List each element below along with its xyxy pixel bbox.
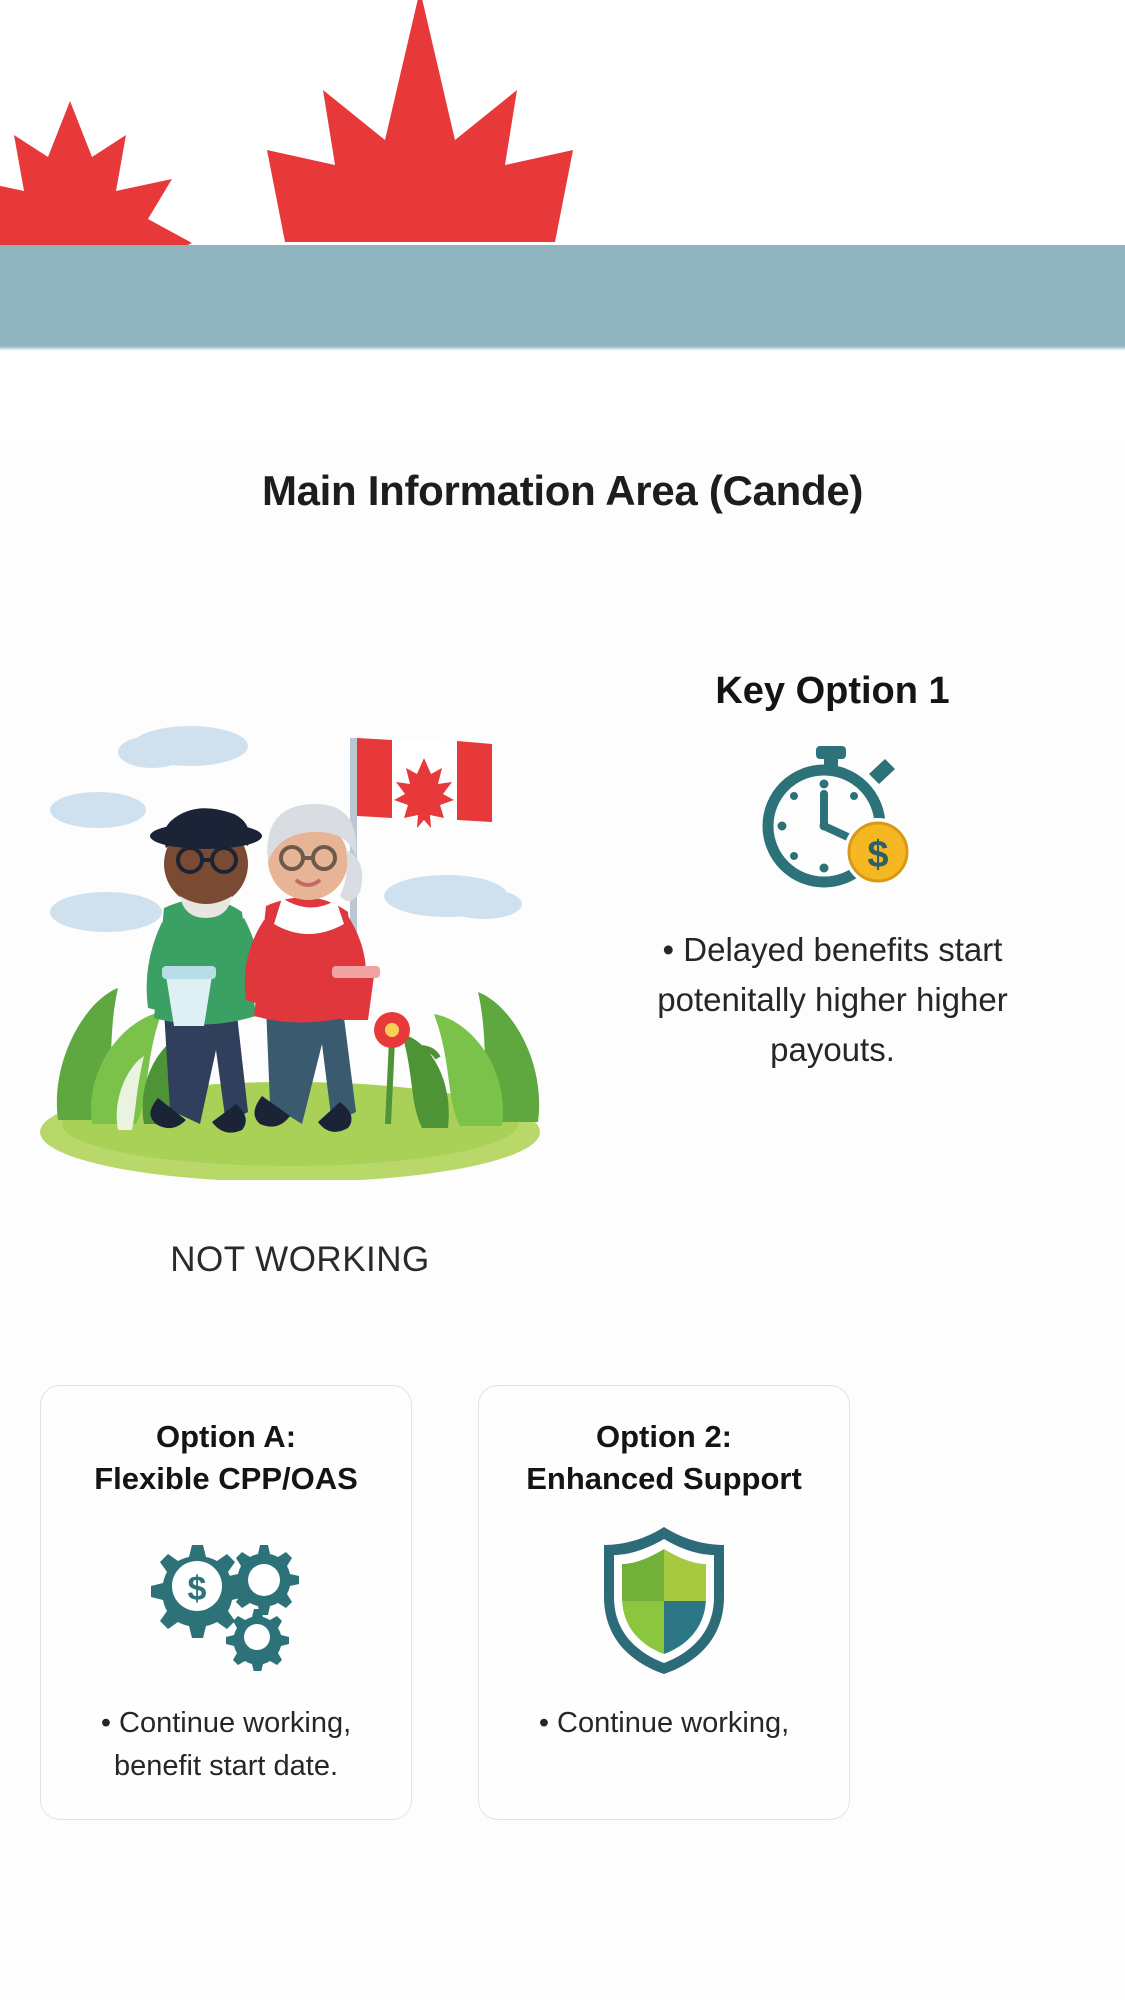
option-card-title-line1: Option 2: [596,1419,732,1454]
option-card-bullet: • Continue working, [497,1702,831,1746]
header-blue-band [0,245,1125,345]
shield-quadrant-icon [497,1526,831,1676]
option-card-title-line1: Option A: [156,1419,296,1454]
page-title: Main Information Area (Cande) [0,440,1125,512]
option-card-title-line2: Flexible CPP/OAS [94,1461,358,1496]
svg-text:$: $ [867,834,888,876]
option-card-title: Option A: Flexible CPP/OAS [59,1416,393,1500]
maple-leaf-large-icon [255,0,585,260]
key-option-bullet: • Delayed benefits start potenitally hig… [580,925,1085,1075]
illustration-caption: NOT WORKING [40,1240,560,1280]
options-card-row: Option A: Flexible CPP/OAS $ [0,1385,1125,1905]
header-banner [0,0,1125,440]
header-band-fade [0,345,1125,440]
option-card-title-line2: Enhanced Support [526,1461,802,1496]
canadian-flag-icon [357,738,492,828]
main-content-row: Key Option 1 [0,700,1125,1320]
infographic-page: Main Information Area (Cande) [0,0,1125,2000]
key-option-column: Key Option 1 [580,700,1085,1075]
option-card-enhanced-support[interactable]: Option 2: Enhanced Support [478,1385,850,1820]
option-card-title: Option 2: Enhanced Support [497,1416,831,1500]
option-card-flexible-cpp-oas[interactable]: Option A: Flexible CPP/OAS $ [40,1385,412,1820]
key-option-title: Key Option 1 [580,670,1085,713]
senior-couple-illustration [40,700,560,1180]
option-card-bullet: • Continue working, benefit start date. [59,1702,393,1789]
svg-text:$: $ [188,1570,207,1608]
stopwatch-dollar-coin-icon: $ [580,741,1085,891]
gears-dollar-icon: $ [59,1526,393,1676]
